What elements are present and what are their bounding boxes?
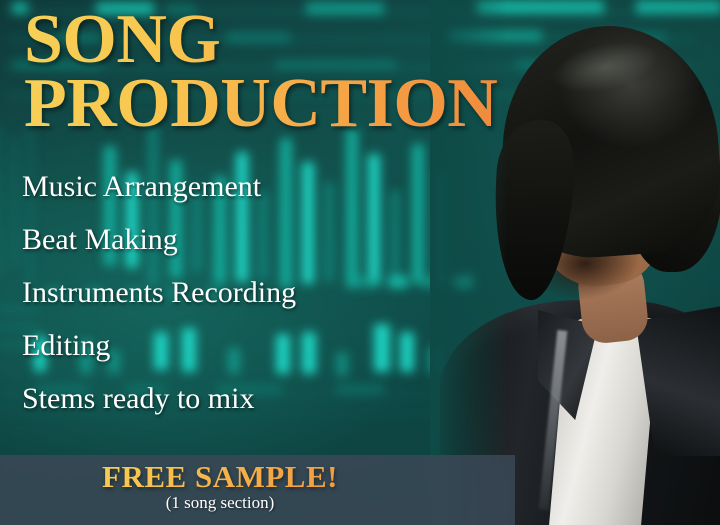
- list-item: Stems ready to mix: [22, 384, 422, 414]
- poster: SONG PRODUCTION Music Arrangement Beat M…: [0, 0, 720, 525]
- list-item: Music Arrangement: [22, 172, 422, 202]
- offer-note: (1 song section): [0, 494, 440, 513]
- list-item: Instruments Recording: [22, 278, 422, 308]
- title-line-2: PRODUCTION: [24, 72, 497, 136]
- list-item: Editing: [22, 331, 422, 361]
- list-item: Beat Making: [22, 225, 422, 255]
- offer-headline: FREE SAMPLE!: [0, 461, 440, 494]
- services-list: Music Arrangement Beat Making Instrument…: [22, 172, 422, 437]
- page-title: SONG PRODUCTION: [24, 8, 497, 137]
- offer-banner: FREE SAMPLE! (1 song section): [0, 455, 515, 525]
- offer-banner-content: FREE SAMPLE! (1 song section): [0, 455, 440, 512]
